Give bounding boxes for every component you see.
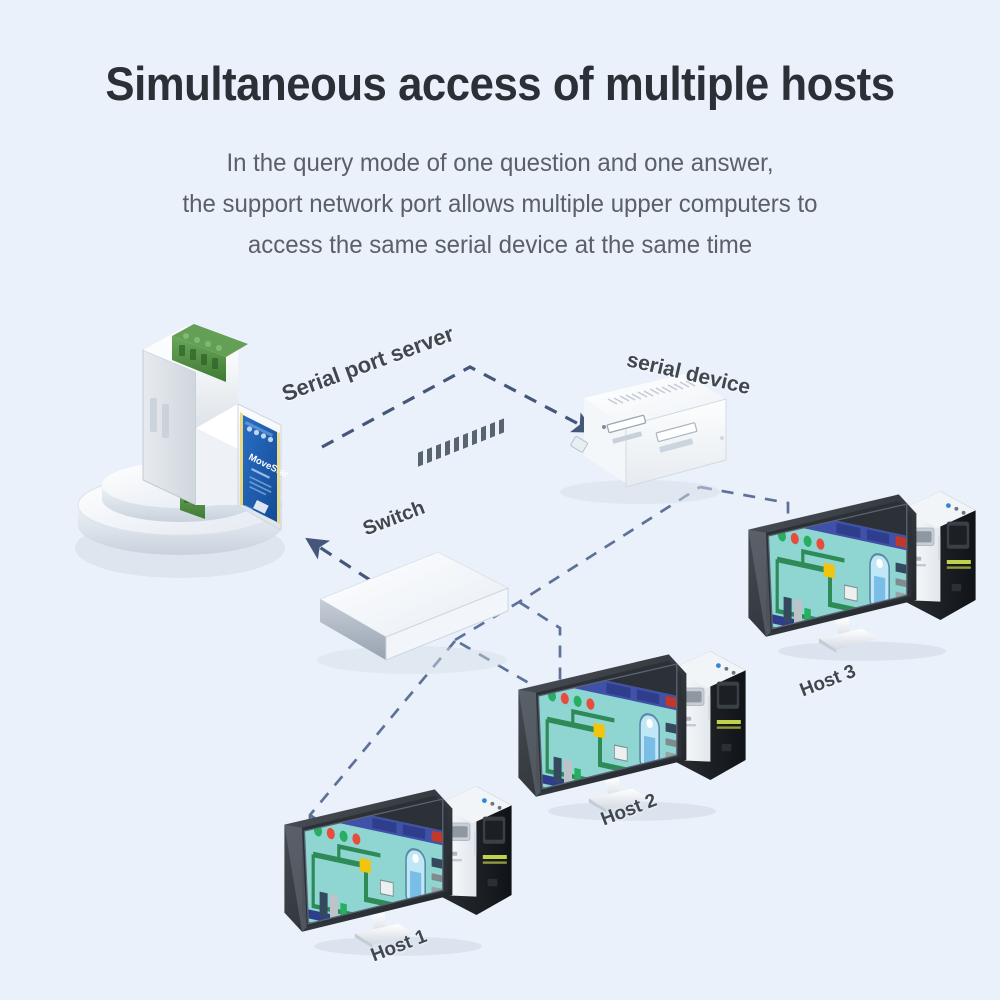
- host-3-workstation: [748, 491, 975, 680]
- infographic-stage: Simultaneous access of multiple hosts In…: [0, 0, 1000, 1000]
- host-workstations: [0, 0, 1000, 1000]
